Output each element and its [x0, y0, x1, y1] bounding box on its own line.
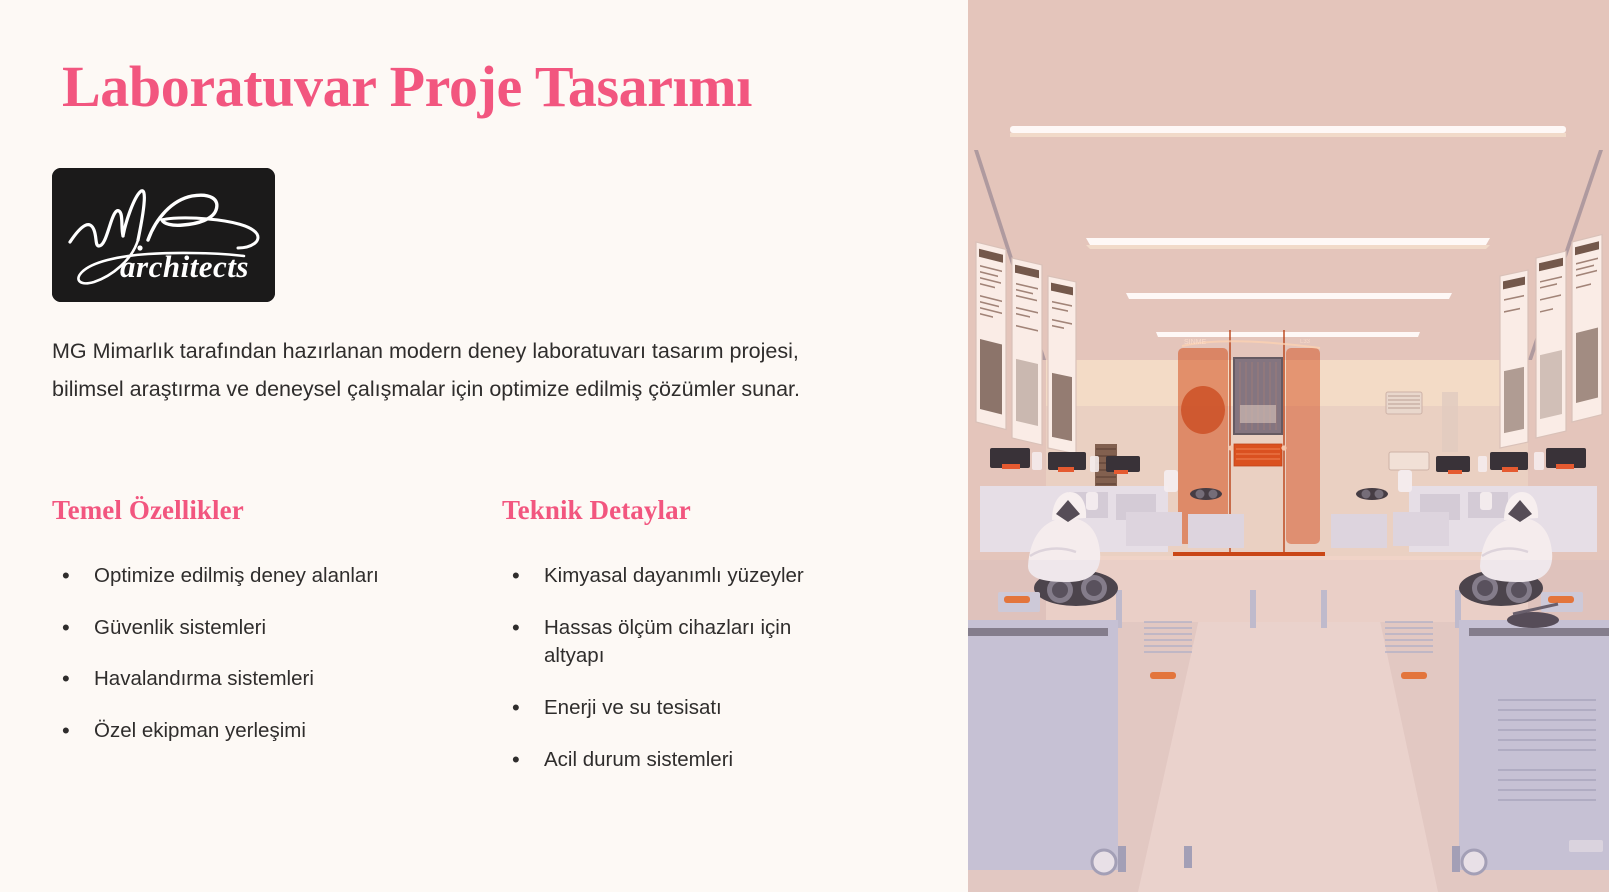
svg-text:architects: architects — [120, 249, 249, 284]
list-item: Güvenlik sistemleri — [52, 614, 412, 643]
feature-columns: Temel Özellikler Optimize edilmiş deney … — [52, 495, 932, 797]
list-item: Özel ekipman yerleşimi — [52, 717, 412, 746]
list-item: Hassas ölçüm cihazları için altyapı — [502, 614, 832, 671]
content-pane: Laboratuvar Proje Tasarımı architects — [0, 0, 968, 892]
intro-paragraph: MG Mimarlık tarafından hazırlanan modern… — [52, 332, 842, 409]
column-temel-ozellikler: Temel Özellikler Optimize edilmiş deney … — [52, 495, 502, 797]
column-heading-teknik-detaylar: Teknik Detaylar — [502, 495, 932, 526]
column-heading-temel-ozellikler: Temel Özellikler — [52, 495, 502, 526]
column-teknik-detaylar: Teknik Detaylar Kimyasal dayanımlı yüzey… — [502, 495, 932, 797]
list-item: Optimize edilmiş deney alanları — [52, 562, 412, 591]
slide-root: Laboratuvar Proje Tasarımı architects — [0, 0, 1609, 892]
list-item: Kimyasal dayanımlı yüzeyler — [502, 562, 832, 591]
feature-list-teknik-detaylar: Kimyasal dayanımlı yüzeyler Hassas ölçüm… — [502, 562, 932, 774]
page-title: Laboratuvar Proje Tasarımı — [62, 57, 752, 118]
list-item: Enerji ve su tesisatı — [502, 694, 832, 723]
feature-list-temel-ozellikler: Optimize edilmiş deney alanları Güvenlik… — [52, 562, 502, 746]
list-item: Acil durum sistemleri — [502, 746, 832, 775]
list-item: Havalandırma sistemleri — [52, 665, 412, 694]
mg-architects-logo: architects — [52, 168, 275, 302]
laboratory-interior-photo: SINME L33 — [968, 0, 1609, 892]
